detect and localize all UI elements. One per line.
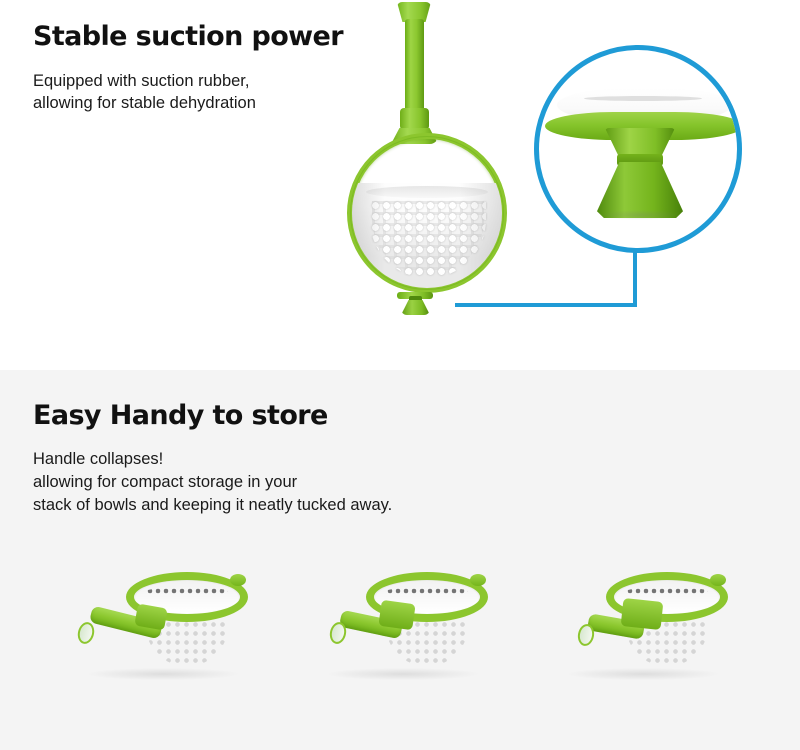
shot-handle-hub [621, 598, 664, 630]
section-stable-suction-power: Stable suction power Equipped with sucti… [0, 0, 800, 370]
shot-rim-holes [386, 587, 468, 596]
suction-cup-icon [401, 300, 430, 315]
product-shot-handle-folding [318, 558, 518, 688]
store-description-line-2: allowing for compact storage in your [33, 471, 392, 494]
store-description: Handle collapses! allowing for compact s… [33, 448, 392, 517]
suction-base-callout [534, 45, 742, 253]
page-title-store: Easy Handy to store [33, 400, 328, 431]
shot-knob-icon [230, 574, 246, 586]
callout-leader-vertical [633, 250, 637, 306]
handle-collar-icon [400, 108, 429, 130]
shot-rim-holes [146, 587, 228, 596]
store-description-line-1: Handle collapses! [33, 448, 392, 471]
shot-knob-icon [470, 574, 486, 586]
shot-rim-holes [626, 587, 708, 596]
handle-shaft-icon [405, 19, 424, 114]
hero-product-image [335, 0, 535, 330]
product-shot-handle-extended [78, 558, 278, 688]
callout-shadow [599, 210, 681, 220]
perforated-bowl [352, 138, 502, 288]
callout-leader-horizontal [455, 303, 637, 307]
shot-handle-hub [378, 600, 415, 630]
suction-description-line-2: allowing for stable dehydration [33, 92, 256, 114]
shot-handle-grip [76, 620, 97, 645]
section-easy-handy-to-store: Easy Handy to store Handle collapses! al… [0, 370, 800, 750]
shot-knob-icon [710, 574, 726, 586]
bowl-shading [352, 183, 502, 288]
callout-bowl-line [584, 96, 702, 101]
product-shot-handle-collapsed [558, 558, 758, 688]
page-title-suction: Stable suction power [33, 21, 343, 52]
suction-description: Equipped with suction rubber, allowing f… [33, 70, 256, 114]
suction-description-line-1: Equipped with suction rubber, [33, 70, 256, 92]
store-description-line-3: stack of bowls and keeping it neatly tuc… [33, 494, 392, 517]
